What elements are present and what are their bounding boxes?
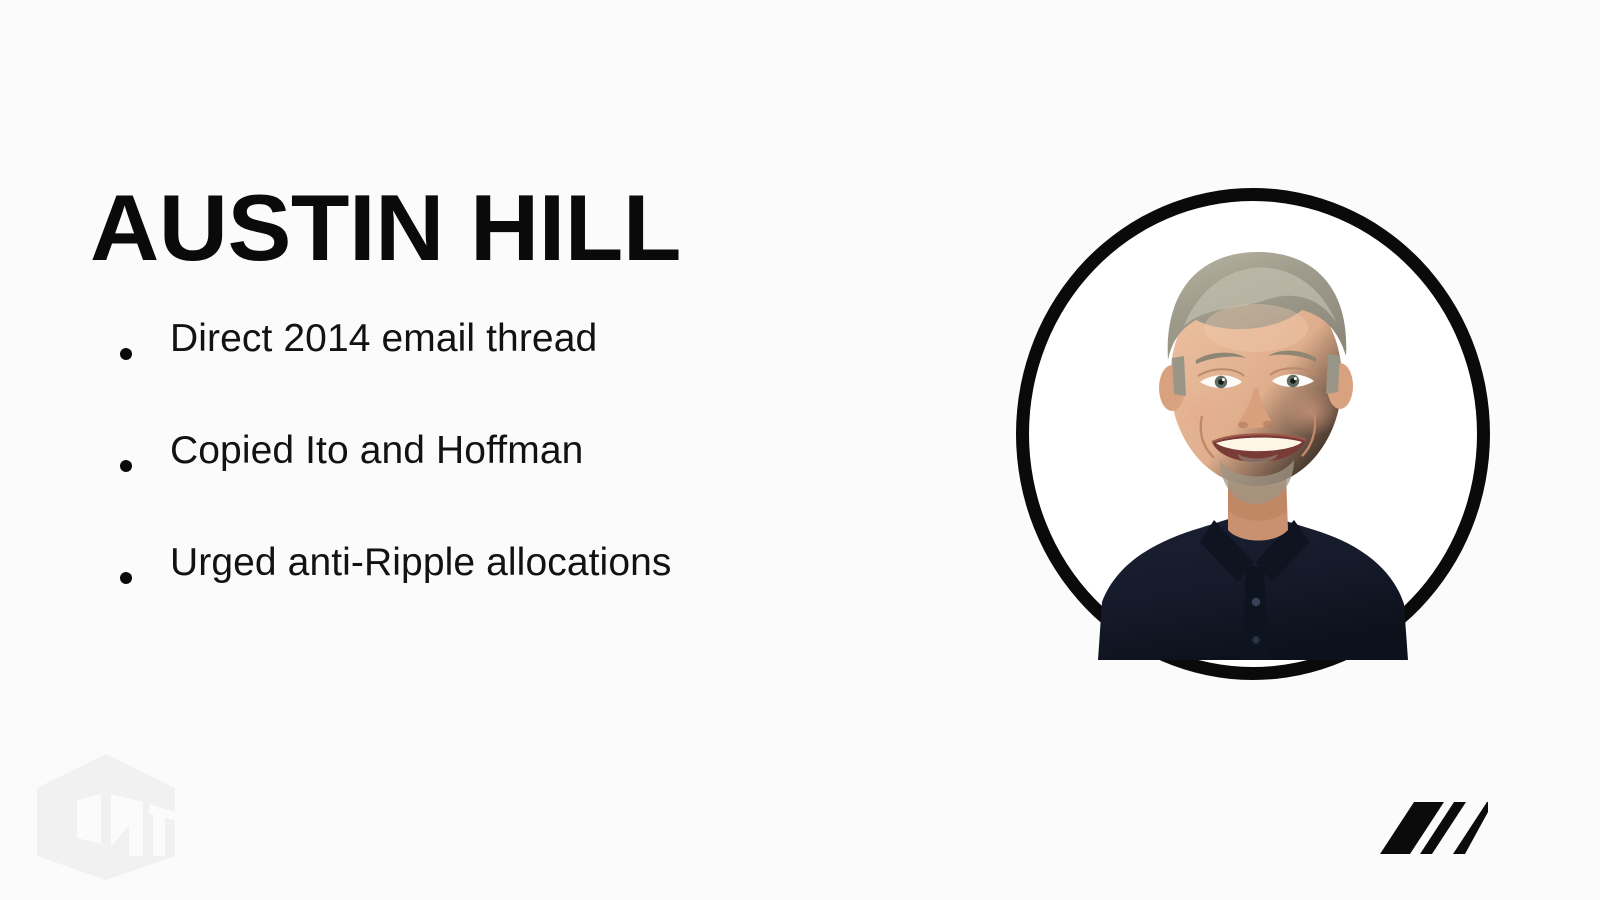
list-item: Direct 2014 email thread <box>118 318 898 430</box>
page-title: AUSTIN HILL <box>90 181 681 275</box>
bullet-dot-icon <box>120 460 132 472</box>
avatar <box>1016 188 1490 680</box>
list-item: Urged anti-Ripple allocations <box>118 542 898 654</box>
bullet-list: Direct 2014 email thread Copied Ito and … <box>118 318 898 654</box>
list-item-label: Copied Ito and Hoffman <box>170 430 583 472</box>
three-slashes-mark-icon <box>1348 800 1488 854</box>
list-item: Copied Ito and Hoffman <box>118 430 898 542</box>
list-item-label: Urged anti-Ripple allocations <box>170 542 672 584</box>
avatar-photo <box>1088 210 1418 660</box>
bullet-dot-icon <box>120 572 132 584</box>
bullet-dot-icon <box>120 348 132 360</box>
slide-canvas: AUSTIN HILL Direct 2014 email thread Cop… <box>0 0 1600 900</box>
list-item-label: Direct 2014 email thread <box>170 318 597 360</box>
dlt-hexagon-logo-icon <box>33 752 179 882</box>
